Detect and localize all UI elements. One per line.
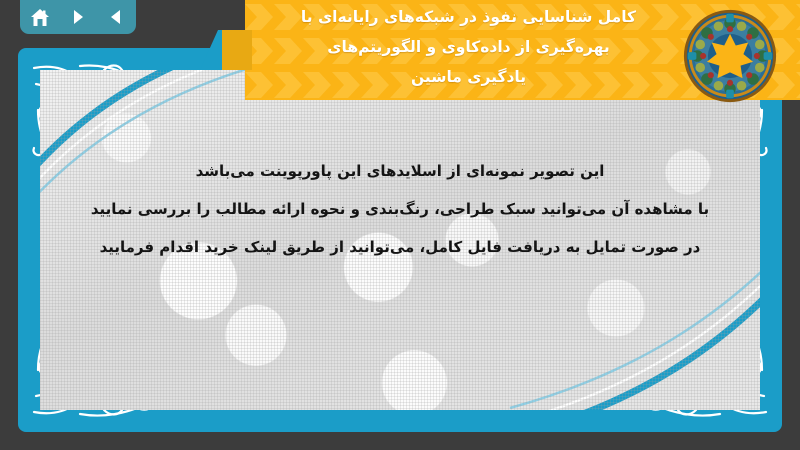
- body-line-2: با مشاهده آن می‌توانید سبک طراحی، رنگ‌بن…: [80, 190, 720, 228]
- home-icon[interactable]: [25, 4, 55, 30]
- navigation-bar[interactable]: [20, 0, 136, 34]
- body-line-3: در صورت تمایل به دریافت فایل کامل، می‌تو…: [80, 228, 720, 266]
- slide-body-text: این تصویر نمونه‌ای از اسلایدهای این پاور…: [80, 152, 720, 266]
- slide-content-area: این تصویر نمونه‌ای از اسلایدهای این پاور…: [40, 70, 760, 410]
- slide-canvas: کامل شناسایی نفوذ در شبکه‌های رایانه‌ای …: [0, 0, 800, 450]
- title-line-2: بهره‌گیری از داده‌کاوی و الگوریتم‌های: [257, 32, 680, 62]
- title-line-1: کامل شناسایی نفوذ در شبکه‌های رایانه‌ای …: [257, 2, 680, 32]
- forward-arrow-icon[interactable]: [63, 4, 93, 30]
- back-arrow-icon[interactable]: [101, 4, 131, 30]
- slide-frame: این تصویر نمونه‌ای از اسلایدهای این پاور…: [18, 48, 782, 432]
- body-line-1: این تصویر نمونه‌ای از اسلایدهای این پاور…: [80, 152, 720, 190]
- ornamental-medallion-icon: [682, 8, 778, 104]
- title-line-3: یادگیری ماشین: [257, 62, 680, 92]
- banner-connector-tab-gold: [222, 30, 252, 70]
